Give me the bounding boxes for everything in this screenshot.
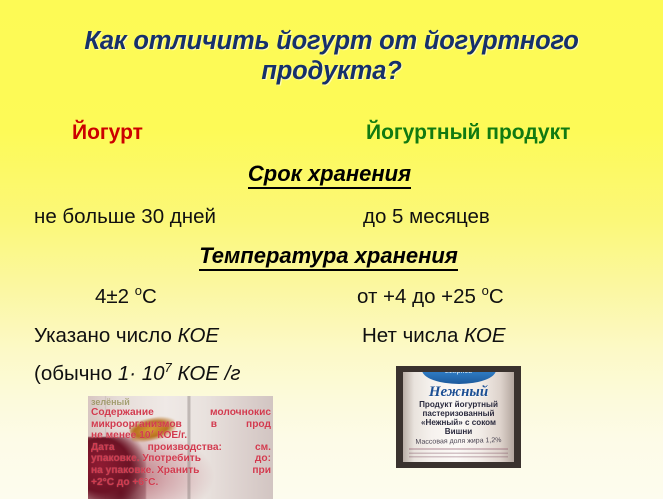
row-storage-temperature: 4±2 oC от +4 до +25 oC bbox=[0, 283, 663, 311]
label-line-5: упаковке. Употребить до: bbox=[91, 453, 271, 465]
typical-cfu-value: (обычно 1· 107 КОЕ /г bbox=[34, 360, 240, 388]
typical-cfu-exponent: 7 bbox=[165, 360, 172, 375]
label-line-1: Содержание молочнокис bbox=[91, 407, 271, 419]
section-heading-shelf-life-text: Срок хранения bbox=[248, 161, 411, 189]
column-header-yogurt-product: Йогуртный продукт bbox=[366, 119, 570, 147]
bottle-fat-content: Массовая доля жира 1,2% bbox=[403, 437, 514, 447]
shelf-life-yogurt-product-value: до 5 месяцев bbox=[363, 203, 490, 231]
page-title: Как отличить йогурт от йогуртного продук… bbox=[0, 26, 663, 86]
storage-temperature-yogurt-value: 4±2 oC bbox=[95, 283, 157, 311]
section-heading-storage-temperature: Температура хранения bbox=[0, 243, 663, 269]
column-header-yogurt: Йогурт bbox=[72, 119, 143, 147]
typical-cfu-prefix: (обычно bbox=[34, 362, 118, 385]
label-line-6-b: при bbox=[252, 465, 271, 477]
label-line-2-b: в bbox=[211, 419, 217, 431]
section-heading-shelf-life: Срок хранения bbox=[0, 161, 663, 187]
cfu-right-text: Нет числа bbox=[362, 324, 464, 347]
photo-yogurt-label: зелёный Содержание молочнокис микроорган… bbox=[88, 396, 273, 499]
cfu-yogurt-value: Указано число КОЕ bbox=[34, 322, 219, 350]
bottle-description: Продукт йогуртный пастеризованный «Нежны… bbox=[403, 400, 514, 436]
storage-temperature-yogurt-product-value: от +4 до +25 oC bbox=[357, 283, 504, 311]
slide-canvas: Как отличить йогурт от йогуртного продук… bbox=[0, 0, 663, 499]
page-title-line-1: Как отличить йогурт от йогуртного bbox=[26, 26, 637, 56]
cfu-yogurt-product-value: Нет числа КОЕ bbox=[362, 322, 506, 350]
temp-left-degree-sign: o bbox=[135, 283, 142, 298]
bottle-description-line-3: «Нежный» с соком bbox=[403, 418, 514, 427]
label-line-2: микроорганизмов в прод bbox=[91, 419, 271, 431]
label-line-1-b: молочнокис bbox=[210, 407, 271, 419]
temp-right-number: от +4 до +25 bbox=[357, 285, 482, 308]
label-line-4: Дата производства: см. bbox=[91, 442, 271, 454]
photo-yogurt-product-bottle: смирнов Нежный Продукт йогуртный пастери… bbox=[396, 366, 521, 468]
bottle-small-print bbox=[409, 448, 508, 460]
label-line-5-b: до: bbox=[255, 453, 271, 465]
label-line-3-post: КОЕ/г. bbox=[154, 430, 187, 441]
label-line-0: зелёный bbox=[91, 398, 271, 407]
cfu-left-abbr: КОЕ bbox=[178, 324, 219, 347]
temp-right-unit: C bbox=[489, 285, 504, 308]
label-line-6-a: на упаковке. Хранить bbox=[91, 465, 199, 477]
bottle-description-line-4: Вишни bbox=[403, 427, 514, 436]
label-line-4-a: Дата bbox=[91, 442, 115, 454]
row-typical-cfu: (обычно 1· 107 КОЕ /г bbox=[0, 360, 663, 388]
bottle-description-line-1: Продукт йогуртный bbox=[403, 400, 514, 409]
temp-left-unit: C bbox=[142, 285, 157, 308]
label-line-2-a: микроорганизмов bbox=[91, 419, 182, 431]
row-shelf-life: не больше 30 дней до 5 месяцев bbox=[0, 203, 663, 231]
row-cfu-count: Указано число КОЕ Нет числа КОЕ bbox=[0, 322, 663, 350]
typical-cfu-mantissa: 1· 10 bbox=[118, 362, 165, 385]
bottle-brand-name: Нежный bbox=[403, 384, 514, 400]
label-line-3: не менее 107 КОЕ/г. bbox=[91, 430, 271, 442]
photo-yogurt-label-text: зелёный Содержание молочнокис микроорган… bbox=[91, 398, 271, 488]
cfu-right-abbr: КОЕ bbox=[464, 324, 505, 347]
label-line-6: на упаковке. Хранить при bbox=[91, 465, 271, 477]
bottle-cap-brand: смирнов bbox=[445, 372, 473, 375]
label-line-4-b: производства: bbox=[148, 442, 222, 454]
column-headers: Йогурт Йогуртный продукт bbox=[0, 119, 663, 149]
label-line-7: +2°С до +6°С. bbox=[91, 477, 271, 489]
bottle-description-line-2: пастеризованный bbox=[403, 409, 514, 418]
label-line-1-a: Содержание bbox=[91, 407, 154, 419]
bottle-body: смирнов Нежный Продукт йогуртный пастери… bbox=[403, 372, 514, 462]
label-line-2-c: прод bbox=[246, 419, 271, 431]
label-line-3-pre: не менее 10 bbox=[91, 430, 151, 441]
shelf-life-yogurt-value: не больше 30 дней bbox=[34, 203, 216, 231]
section-heading-storage-temperature-text: Температура хранения bbox=[199, 243, 458, 271]
temp-left-number: 4±2 bbox=[95, 285, 135, 308]
page-title-line-2: продукта? bbox=[26, 56, 637, 86]
label-line-5-a: упаковке. Употребить bbox=[91, 453, 201, 465]
typical-cfu-units: КОЕ /г bbox=[172, 362, 241, 385]
temp-right-degree-sign: o bbox=[482, 283, 489, 298]
cfu-left-text: Указано число bbox=[34, 324, 178, 347]
label-line-4-c: см. bbox=[255, 442, 271, 454]
